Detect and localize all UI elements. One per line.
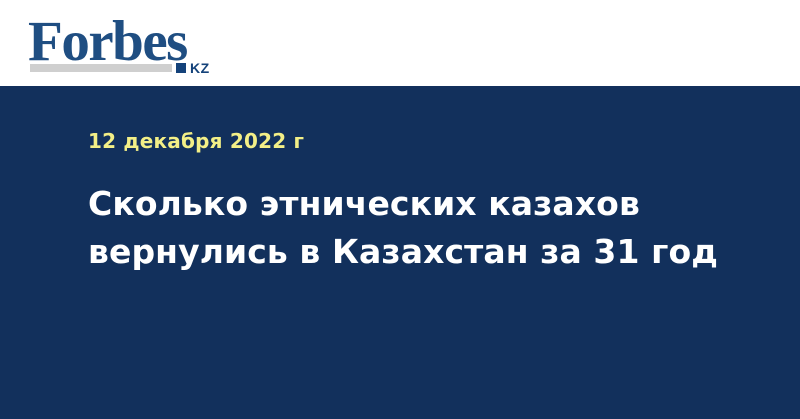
logo-square-icon	[176, 63, 186, 73]
logo-country-suffix: KZ	[190, 61, 210, 75]
article-card: Forbes KZ 12 декабря 2022 г Сколько этни…	[0, 0, 800, 419]
site-header: Forbes KZ	[0, 0, 800, 86]
article-body: 12 декабря 2022 г Сколько этнических каз…	[0, 86, 800, 419]
headline-line-2: вернулись в Казахстан за 31 год	[88, 228, 728, 276]
forbes-kz-logo[interactable]: Forbes KZ	[28, 13, 228, 77]
page-title: Сколько этнических казахов вернулись в К…	[88, 180, 728, 276]
logo-wordmark: Forbes	[28, 13, 187, 70]
publication-date: 12 декабря 2022 г	[88, 129, 304, 153]
logo-underline-bar	[30, 64, 172, 72]
headline-line-1: Сколько этнических казахов	[88, 180, 728, 228]
